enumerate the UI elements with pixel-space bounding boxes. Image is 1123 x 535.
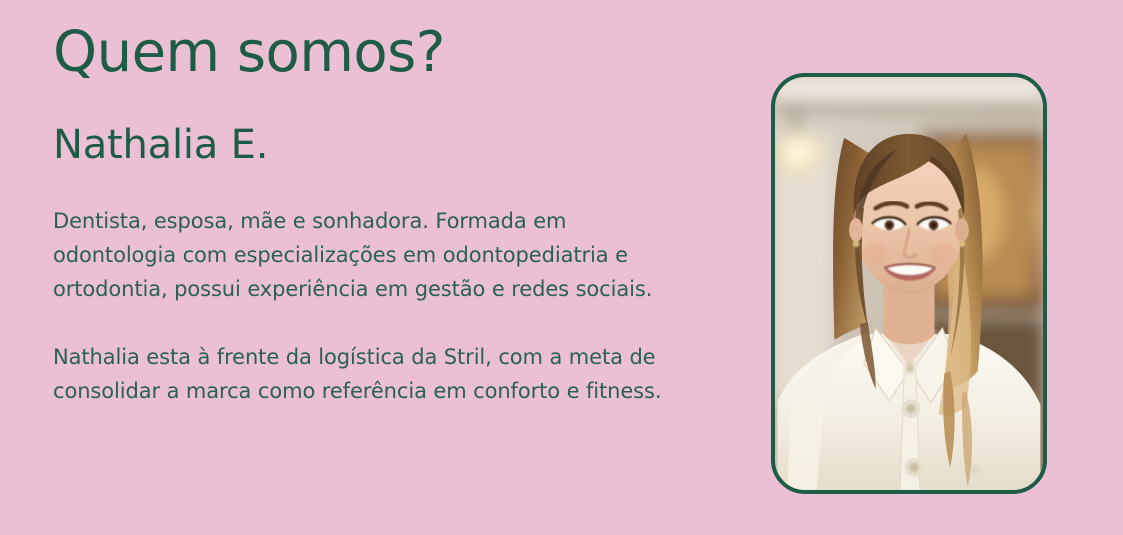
portrait-photo-icon <box>775 77 1043 490</box>
bio-paragraph-1: Dentista, esposa, mãe e sonhadora. Forma… <box>53 204 678 306</box>
portrait-image <box>775 77 1043 490</box>
bio-paragraph-2: Nathalia esta à frente da logística da S… <box>53 340 678 408</box>
page-title: Quem somos? <box>53 21 445 85</box>
person-name: Nathalia E. <box>53 120 268 170</box>
about-us-section: Quem somos? Nathalia E. Dentista, esposa… <box>0 0 1123 535</box>
about-body-copy: Dentista, esposa, mãe e sonhadora. Forma… <box>53 204 678 408</box>
about-text-column: Quem somos? Nathalia E. Dentista, esposa… <box>53 0 713 535</box>
portrait-frame <box>771 73 1047 494</box>
